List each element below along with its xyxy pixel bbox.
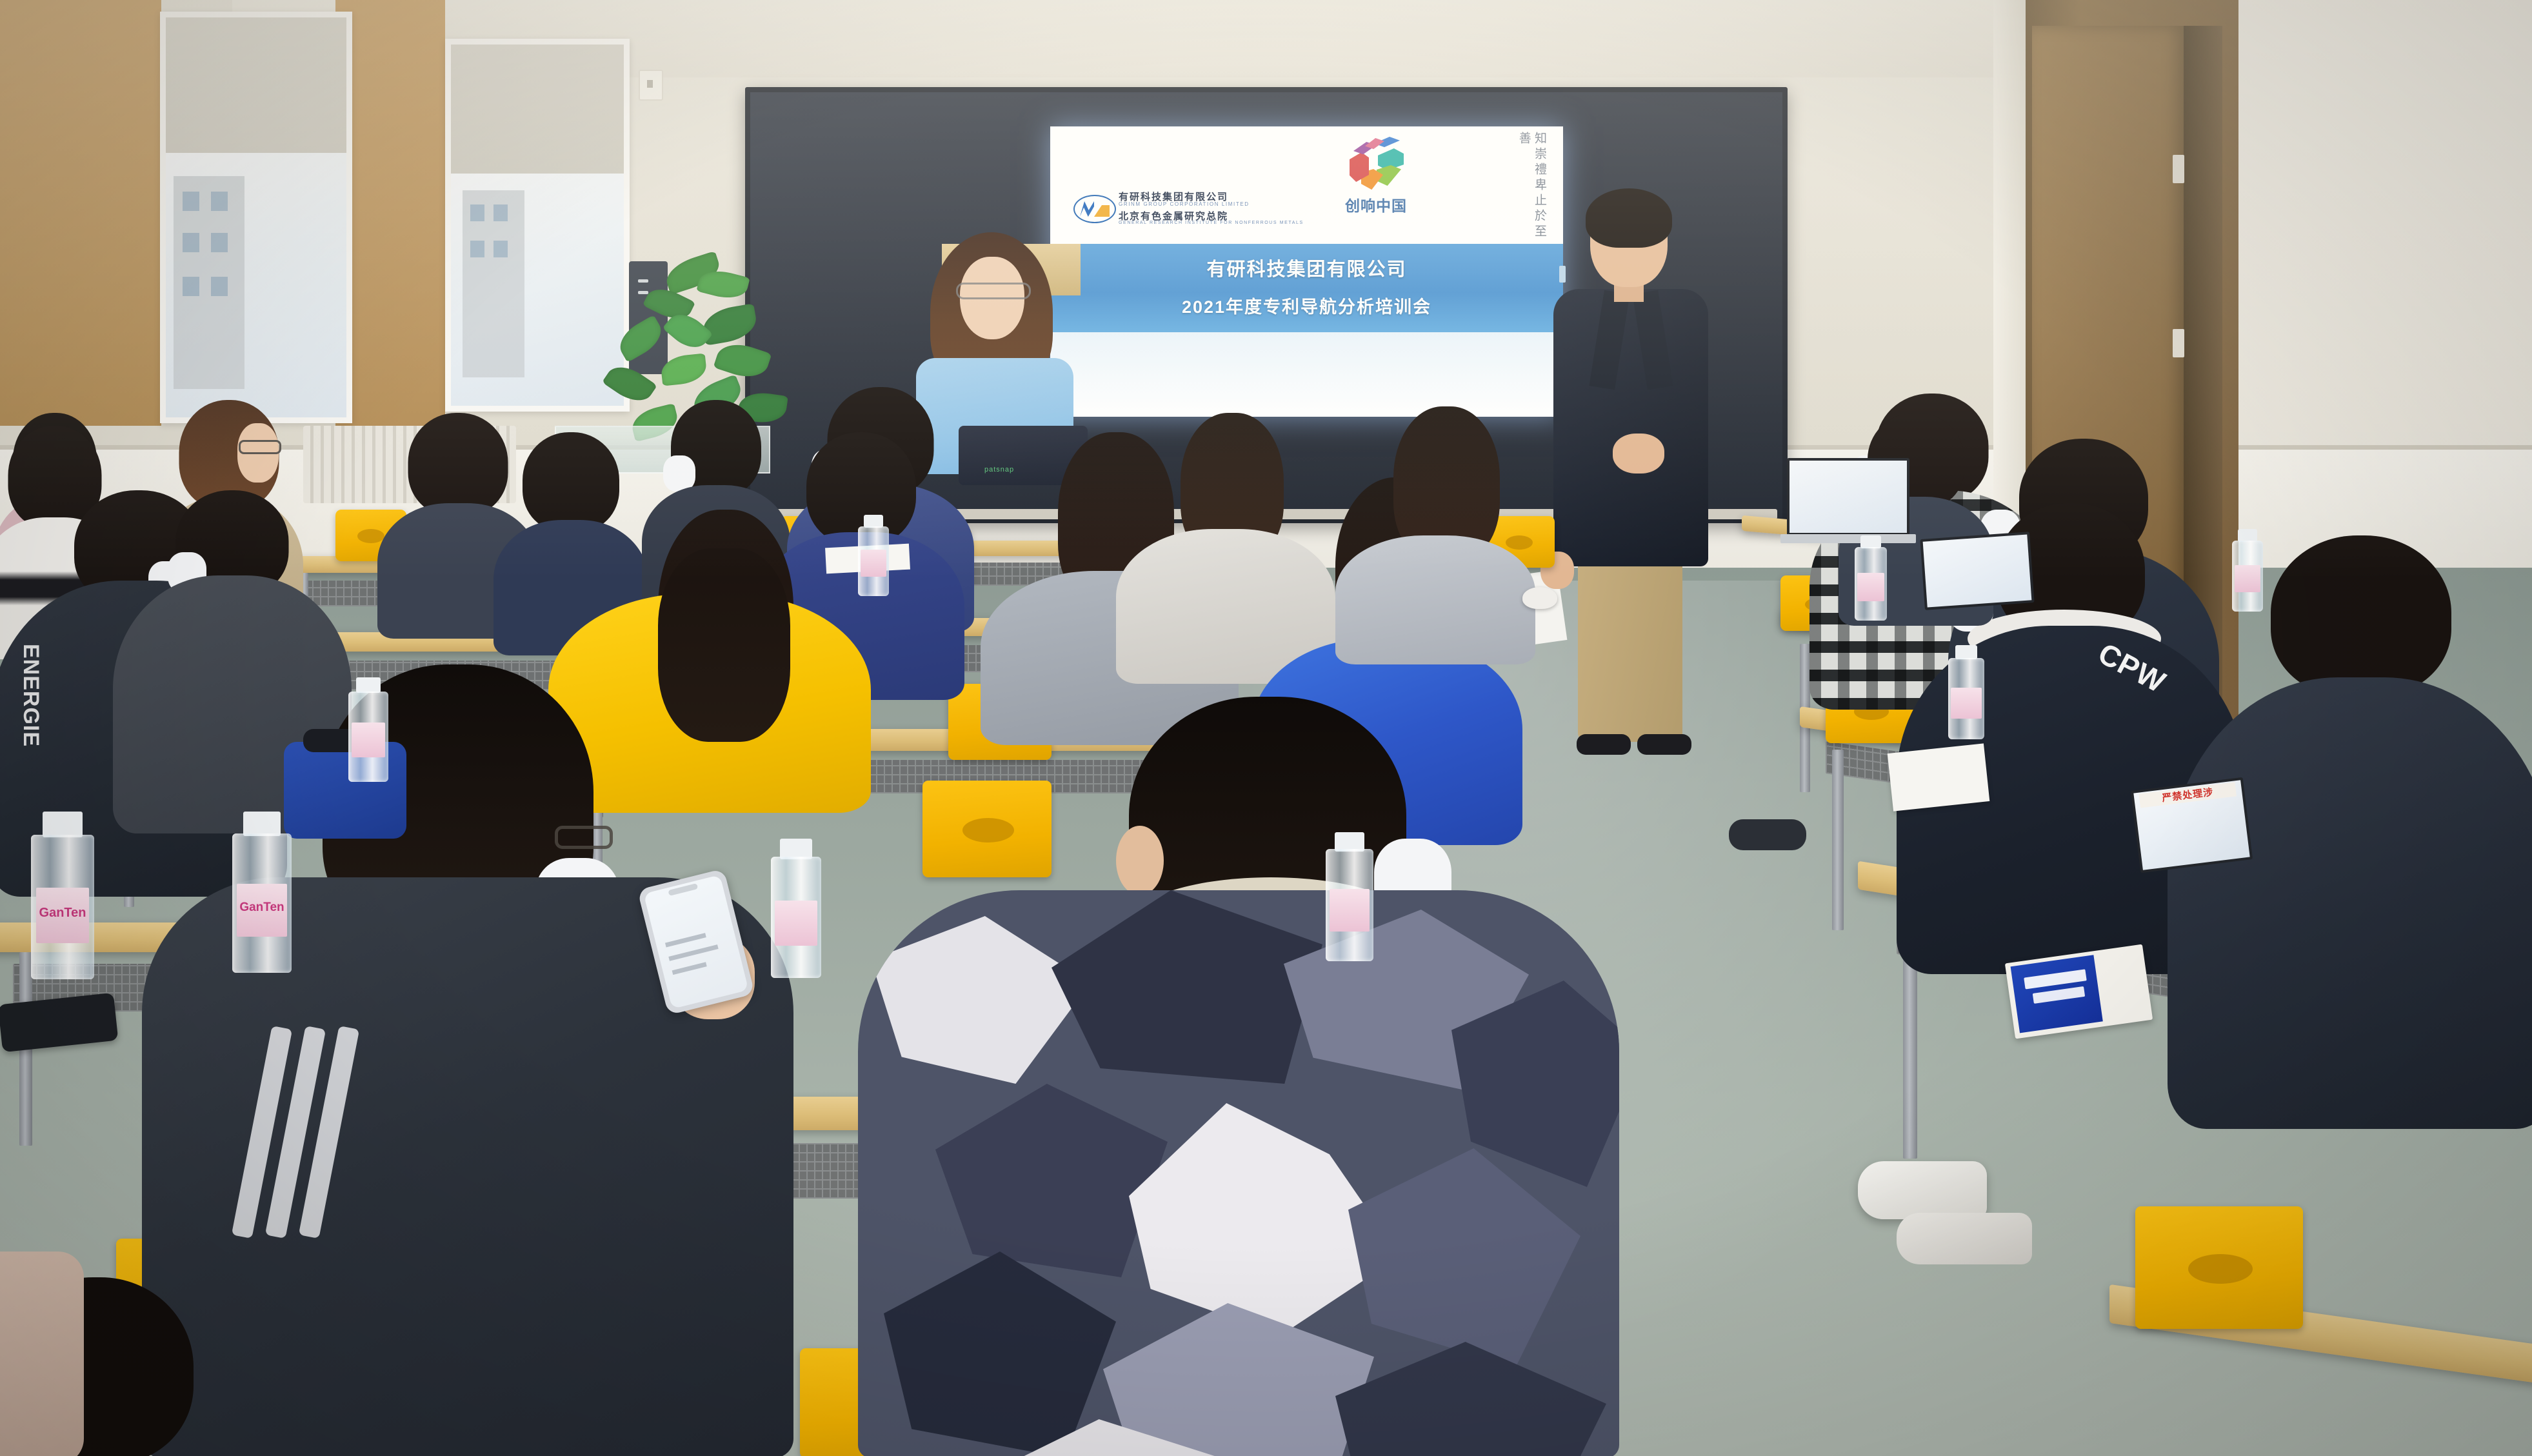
water-bottle-6[interactable] — [858, 515, 889, 596]
projected-slide: 有研科技集团有限公司 GRINM GROUP CORPORATION LIMIT… — [1050, 126, 1563, 417]
water-bottle-2[interactable]: GanTen — [232, 812, 292, 973]
grinm-en-line2: GENERAL RESEARCH INSTITUTE FOR NONFERROU… — [1119, 221, 1304, 225]
attendee-body — [1335, 535, 1535, 664]
attendee-body — [2168, 677, 2532, 1129]
attendee-glasses-icon — [239, 440, 281, 454]
attendee-glasses-icon — [555, 826, 613, 849]
hexagon-cube-icon — [1348, 135, 1404, 191]
window-left-1 — [160, 12, 352, 423]
male-presenter — [1529, 194, 1722, 710]
laptop-screen-content — [1923, 534, 2032, 607]
tablet-right[interactable]: 严禁处理涉 — [2131, 777, 2253, 873]
attendee-ear — [1116, 826, 1164, 895]
water-bottle-8[interactable] — [2232, 529, 2263, 612]
bottle-cap — [864, 515, 883, 528]
water-bottle-7[interactable] — [1855, 535, 1887, 621]
bottle-cap — [243, 812, 281, 836]
presenter-hand-on-chest — [1613, 434, 1664, 474]
water-bottle-3[interactable] — [771, 839, 821, 978]
computer-mouse[interactable] — [1522, 587, 1557, 609]
water-bottle-5[interactable] — [348, 677, 388, 782]
bottle-label — [352, 723, 385, 757]
classroom-photo-scene: 有研科技集团有限公司 GRINM GROUP CORPORATION LIMIT… — [0, 0, 2532, 1456]
laptop-right-2[interactable] — [1920, 532, 2034, 610]
laptop-right-1[interactable] — [1787, 458, 1909, 535]
slide-title-line1: 有研科技集团有限公司 — [1050, 254, 1563, 281]
attendee-shoe-white-2 — [1897, 1213, 2032, 1264]
grinm-en-line1: GRINM GROUP CORPORATION LIMITED — [1119, 201, 1250, 207]
laptop-screen-content — [1789, 461, 1907, 533]
attendee-shoe-dark — [1729, 819, 1806, 850]
attendee-body — [858, 890, 1619, 1456]
campaign-logo: 创响中国 — [1328, 135, 1424, 219]
attendee-center-camouflage-jacket — [858, 697, 1632, 1456]
grinm-company-logo: 有研科技集团有限公司 GRINM GROUP CORPORATION LIMIT… — [1073, 190, 1248, 230]
grinm-m-mark-icon — [1073, 195, 1116, 223]
door-hinge-bottom-icon — [2173, 329, 2184, 357]
bottle-label — [1330, 889, 1370, 932]
attendee-head — [408, 413, 508, 516]
attendee-back-right-woman — [1342, 406, 1529, 652]
bottle-label-text: GanTen — [31, 906, 94, 921]
bottle-label — [2235, 565, 2260, 592]
attendee-head — [2271, 535, 2451, 697]
bottle-cap — [1955, 645, 1977, 659]
chair-right-4[interactable] — [2135, 1206, 2303, 1329]
window-glass-1 — [166, 153, 346, 417]
bottle-label-text: GanTen — [232, 901, 292, 915]
paper-sheet-right[interactable] — [1888, 743, 1990, 811]
bottle-label — [1857, 573, 1884, 601]
presenter-shoe-right — [1637, 734, 1691, 755]
bottle-cap — [356, 677, 381, 693]
chair-handle-hole — [357, 529, 384, 543]
bottle-label — [1951, 688, 1981, 719]
wall-outlet-slot-icon — [647, 80, 653, 88]
attendee-shoe-white — [1858, 1161, 1987, 1219]
attendee-bottom-left-partial — [0, 1252, 232, 1456]
door-hinge-top-icon — [2173, 155, 2184, 183]
desk-leg — [1832, 750, 1844, 930]
attendee-jacket-text: ENERGIE — [18, 644, 43, 747]
chair-handle-hole — [2188, 1254, 2253, 1284]
attendee-front-phone-user — [174, 664, 755, 1456]
window-blind-2[interactable] — [451, 45, 624, 174]
slide-title-line2: 2021年度专利导航分析培训会 — [1050, 293, 1563, 318]
presenter-jacket — [1553, 289, 1708, 566]
laptop-base-right-1 — [1780, 534, 1916, 543]
bottle-cap — [43, 812, 83, 837]
water-bottle-4[interactable] — [1326, 832, 1373, 961]
water-bottle-1[interactable]: GanTen — [31, 812, 94, 979]
bottle-cap — [1860, 535, 1881, 548]
attendee-body — [0, 1252, 84, 1456]
campaign-logo-text: 创响中国 — [1328, 194, 1424, 215]
bottle-label — [861, 550, 886, 577]
face-mask — [663, 455, 695, 492]
water-bottle-9[interactable] — [1948, 645, 1984, 739]
presenter-hair — [1586, 188, 1672, 248]
window-blind-1[interactable] — [166, 17, 346, 153]
left-wall-tan-column — [0, 0, 161, 426]
woman-glasses-icon — [956, 283, 1031, 299]
bottle-label — [775, 901, 817, 946]
bottle-cap — [2238, 529, 2257, 542]
